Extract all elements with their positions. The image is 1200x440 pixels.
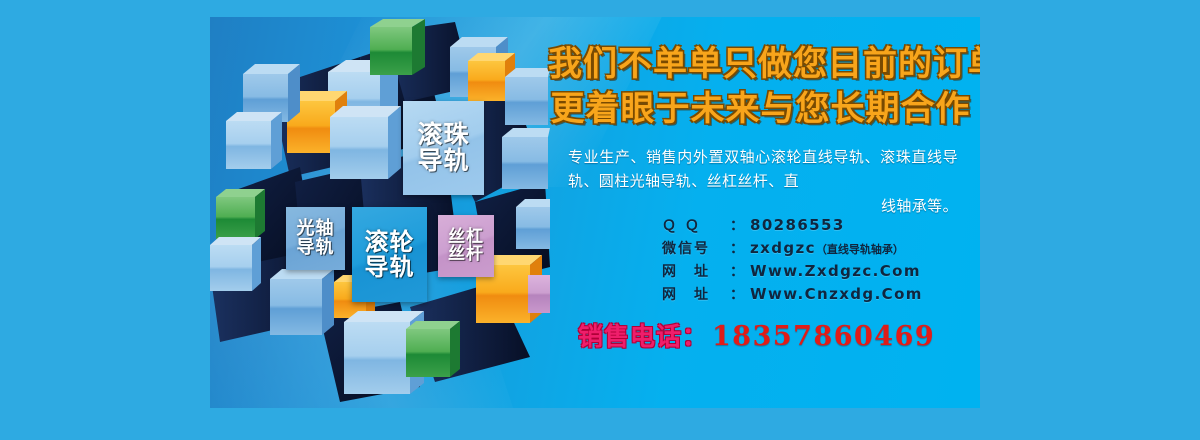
product-plate-lead-screw[interactable]: 丝杠 丝杆 — [438, 215, 494, 277]
contact-value-website-2[interactable]: Www.Cnzxdg.Com — [750, 285, 923, 303]
contact-value-qq[interactable]: 80286553 — [750, 216, 845, 234]
plate-line-2: 丝杆 — [448, 246, 484, 264]
contact-row-wechat: 微信号 ： zxdgzc （直线导轨轴承） — [662, 238, 980, 258]
contact-colon: ： — [730, 261, 744, 281]
product-plate-optical-shaft[interactable]: 光轴 导轨 — [286, 207, 345, 270]
contact-label-website-1: 网 址 — [662, 261, 730, 281]
contact-row-website-1: 网 址 ： Www.Zxdgzc.Com — [662, 261, 980, 281]
plate-line-2: 导轨 — [365, 255, 415, 280]
headline-line-1: 我们不单单只做您目前的订单 — [548, 42, 973, 87]
product-plate-roller-rail[interactable]: 滚轮 导轨 — [352, 207, 427, 302]
page-root: 滚珠 导轨 光轴 导轨 滚轮 导轨 丝杠 丝杆 我们不单单只做您目前的订单 更着… — [0, 0, 1200, 440]
contact-row-qq: Ｑ Ｑ ： 80286553 — [662, 215, 980, 235]
cube-cluster-graphic: 滚珠 导轨 光轴 导轨 滚轮 导轨 丝杠 丝杆 — [210, 17, 550, 408]
description-block: 专业生产、销售内外置双轴心滚轮直线导轨、滚珠直线导轨、圆柱光轴导轨、丝杠丝杆、直… — [568, 145, 958, 218]
contact-note-wechat: （直线导轨轴承） — [816, 241, 904, 257]
product-plate-ball-rail[interactable]: 滚珠 导轨 — [403, 101, 484, 195]
plate-line-1: 滚轮 — [365, 230, 415, 255]
contact-label-wechat: 微信号 — [662, 238, 730, 258]
contact-value-website-1[interactable]: Www.Zxdgzc.Com — [750, 262, 921, 280]
banner-content-column: 我们不单单只做您目前的订单 更着眼于未来与您长期合作 专业生产、销售内外置双轴心… — [540, 17, 980, 408]
promo-banner: 滚珠 导轨 光轴 导轨 滚轮 导轨 丝杠 丝杆 我们不单单只做您目前的订单 更着… — [210, 17, 980, 408]
contact-colon: ： — [730, 238, 744, 258]
sales-phone-block: 销售电话： 18357860469 — [578, 317, 935, 353]
description-line-1: 专业生产、销售内外置双轴心滚轮直线导轨、 — [568, 148, 880, 166]
contact-value-wechat[interactable]: zxdgzc — [750, 239, 816, 257]
contact-label-website-2: 网 址 — [662, 284, 730, 304]
sales-phone-label: 销售电话： — [578, 317, 708, 353]
contact-colon: ： — [730, 215, 744, 235]
headline-line-2: 更着眼于未来与您长期合作 — [548, 87, 973, 132]
sales-phone-number[interactable]: 18357860469 — [712, 321, 935, 352]
contact-row-website-2: 网 址 ： Www.Cnzxdg.Com — [662, 284, 980, 304]
plate-line-1: 滚珠 — [417, 122, 469, 148]
plate-line-1: 光轴 — [297, 220, 335, 239]
contact-label-qq: Ｑ Ｑ — [662, 215, 730, 235]
contact-colon: ： — [730, 284, 744, 304]
plate-line-2: 导轨 — [297, 239, 335, 258]
headline-block: 我们不单单只做您目前的订单 更着眼于未来与您长期合作 — [548, 42, 973, 132]
contact-info-block: Ｑ Ｑ ： 80286553 微信号 ： zxdgzc （直线导轨轴承） 网 址… — [662, 215, 980, 307]
plate-line-2: 导轨 — [417, 148, 469, 174]
